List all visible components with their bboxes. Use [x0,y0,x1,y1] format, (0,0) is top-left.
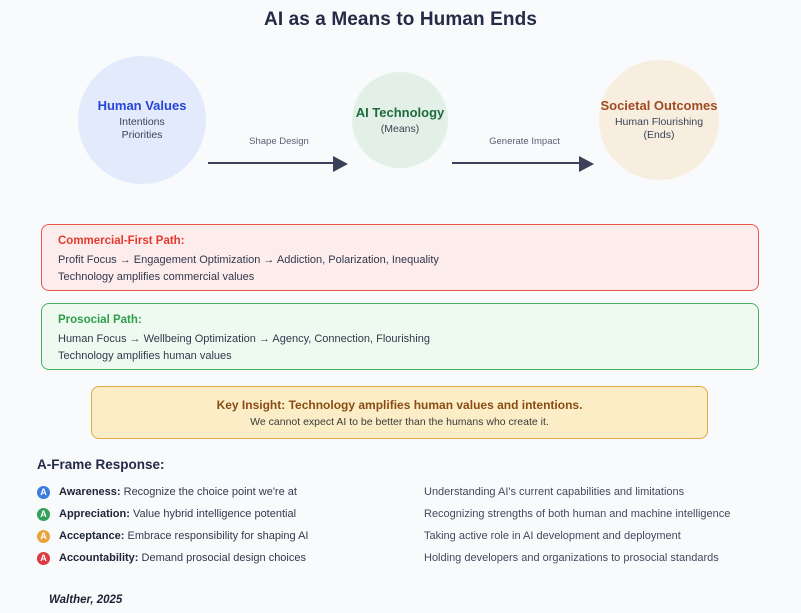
path-line-1: Human Focus → Wellbeing Optimization → A… [58,331,742,348]
letter-a-badge-icon: A [37,530,50,543]
node-title: AI Technology [356,105,445,121]
aframe-item-term: Acceptance: [59,530,124,542]
arrow-head-icon [333,156,348,172]
path-line-2: Technology amplifies human values [58,348,742,365]
aframe-item-term: Awareness: [59,486,121,498]
page-title: AI as a Means to Human Ends [0,9,801,31]
aframe-item-right: Understanding AI's current capabilities … [424,486,684,498]
node-subtitle-2: Priorities [122,129,163,142]
aframe-item-desc: Demand prosocial design choices [138,552,306,564]
node-title: Human Values [98,98,187,114]
shape-design-arrow: Shape Design [208,136,350,176]
prosocial-path-box: Prosocial Path: Human Focus → Wellbeing … [41,303,759,370]
arrow-label: Generate Impact [452,136,597,147]
path-line-2: Technology amplifies commercial values [58,269,742,286]
path-heading: Prosocial Path: [58,314,742,326]
arrow-head-icon [579,156,594,172]
path-heading: Commercial-First Path: [58,235,742,247]
flow-node-ai-technology: AI Technology (Means) [352,72,448,168]
aframe-item-right: Holding developers and organizations to … [424,552,719,564]
aframe-item-term: Accountability: [59,552,138,564]
arrow-line [452,162,582,164]
aframe-item-left: Appreciation: Value hybrid intelligence … [59,508,424,520]
aframe-item-left: Accountability: Demand prosocial design … [59,552,424,564]
node-subtitle-1: Human Flourishing [615,116,703,129]
flow-node-societal-outcomes: Societal Outcomes Human Flourishing (End… [599,60,719,180]
arrow-label: Shape Design [208,136,350,147]
footer-citation: Walther, 2025 [49,594,122,606]
key-insight-box: Key Insight: Technology amplifies human … [91,386,708,439]
list-item: A Acceptance: Embrace responsibility for… [37,525,772,547]
aframe-item-right: Recognizing strengths of both human and … [424,508,730,520]
list-item: A Accountability: Demand prosocial desig… [37,547,772,569]
aframe-item-desc: Recognize the choice point we're at [121,486,297,498]
node-title: Societal Outcomes [600,98,717,114]
aframe-section-title: A-Frame Response: [37,457,165,472]
list-item: A Awareness: Recognize the choice point … [37,481,772,503]
aframe-item-right: Taking active role in AI development and… [424,530,681,542]
arrow-line [208,162,336,164]
aframe-item-desc: Value hybrid intelligence potential [130,508,296,520]
generate-impact-arrow: Generate Impact [452,136,597,176]
aframe-item-desc: Embrace responsibility for shaping AI [124,530,308,542]
node-subtitle-2: (Ends) [644,129,675,142]
key-insight-heading: Key Insight: Technology amplifies human … [217,398,583,412]
aframe-item-left: Awareness: Recognize the choice point we… [59,486,424,498]
flow-diagram: Human Values Intentions Priorities Shape… [0,54,801,204]
aframe-list: A Awareness: Recognize the choice point … [37,481,772,569]
aframe-item-left: Acceptance: Embrace responsibility for s… [59,530,424,542]
flow-node-human-values: Human Values Intentions Priorities [78,56,206,184]
commercial-first-path-box: Commercial-First Path: Profit Focus → En… [41,224,759,291]
path-line-1: Profit Focus → Engagement Optimization →… [58,252,742,269]
letter-a-badge-icon: A [37,486,50,499]
node-subtitle-1: (Means) [381,123,420,136]
key-insight-subtext: We cannot expect AI to be better than th… [250,416,549,428]
letter-a-badge-icon: A [37,552,50,565]
list-item: A Appreciation: Value hybrid intelligenc… [37,503,772,525]
aframe-item-term: Appreciation: [59,508,130,520]
letter-a-badge-icon: A [37,508,50,521]
node-subtitle-1: Intentions [119,116,165,129]
